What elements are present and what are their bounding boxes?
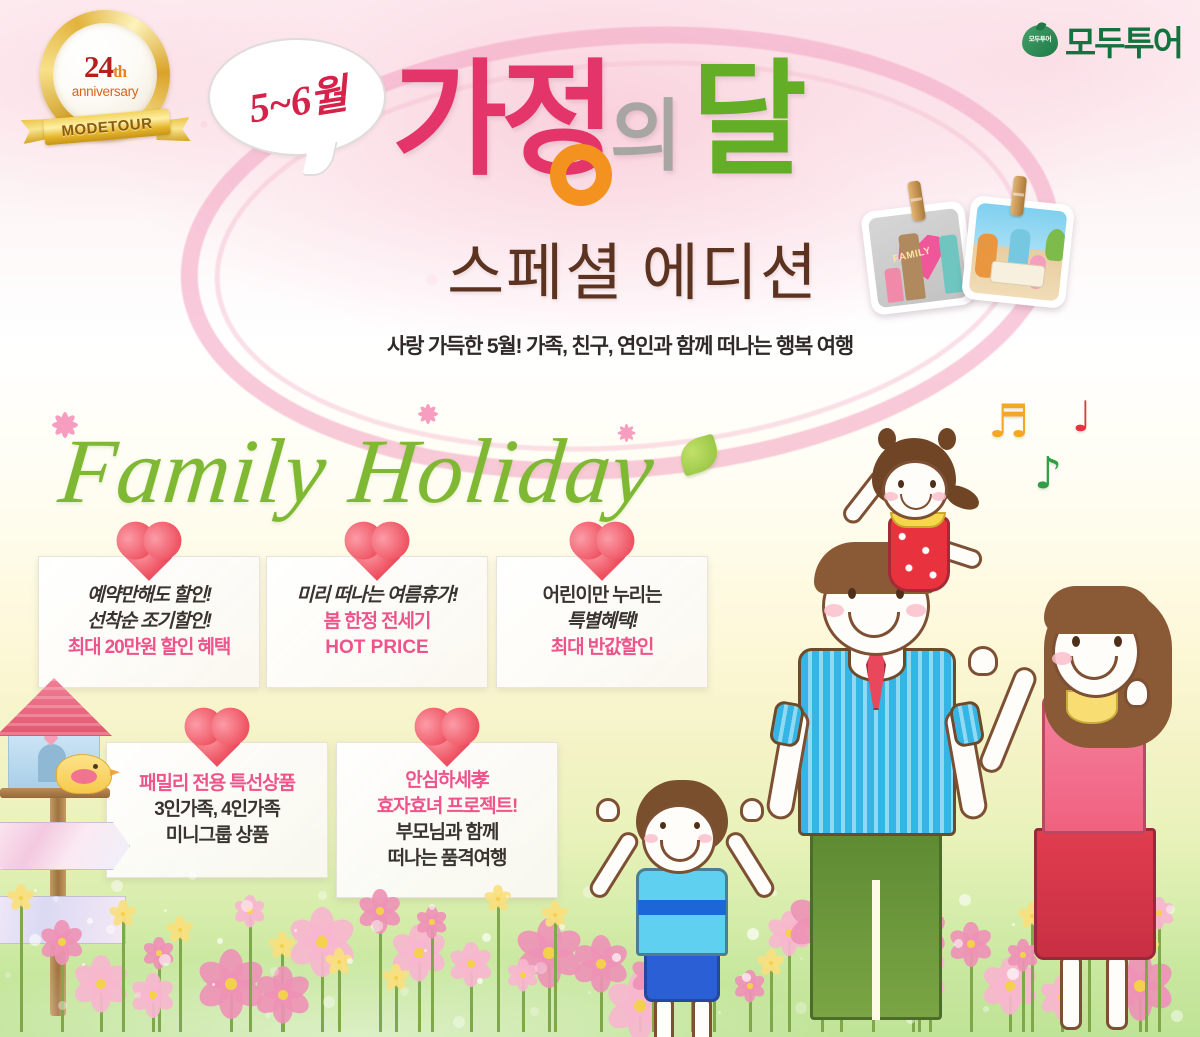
- birdhouse-illustration: [0, 670, 116, 790]
- card-line: 부모님과 함께: [396, 820, 498, 846]
- heart-pin-icon: [187, 709, 247, 764]
- card-line: 예약만해도 할인!: [87, 583, 211, 609]
- card-line: 선착순 조기할인!: [87, 609, 211, 635]
- heart-pin-icon: [119, 523, 179, 578]
- family-holiday-script: Family Holiday: [54, 418, 659, 524]
- picnic-tree: [1044, 228, 1067, 262]
- card-line: 미리 떠나는 여름휴가!: [296, 583, 457, 609]
- photo-person-mom: [939, 234, 964, 294]
- girl-cheek-left: [884, 492, 898, 501]
- boy-shirt-stripe: [638, 900, 726, 915]
- mother-eye-right: [1114, 636, 1122, 647]
- page-title: 가정 의 달: [392, 58, 801, 183]
- boy-eye-right: [694, 822, 700, 829]
- girl-eye-right: [930, 480, 936, 488]
- boy-hand-right: [740, 798, 764, 822]
- modetour-logo[interactable]: 모두투어 모두투어: [1022, 16, 1182, 65]
- badge-years-suffix: th: [113, 62, 126, 81]
- card-line-highlight: 안심하세孝: [405, 768, 488, 794]
- promo-banner: 24th anniversary MODETOUR 모두투어 모두투어 5~6월…: [0, 0, 1200, 1037]
- girl-eye-left: [898, 480, 904, 488]
- card-kids-benefit[interactable]: 어린이만 누리는 특별혜택! 최대 반값할인: [496, 556, 708, 688]
- mother-cheek-left: [1052, 652, 1072, 665]
- photo-image-family: FAMILY: [868, 208, 968, 308]
- headline-glyph-ga: 가: [392, 48, 501, 193]
- logo-wordmark: 모두투어: [1065, 16, 1182, 65]
- card-line-highlight-en: HOT PRICE: [325, 635, 428, 661]
- card-line: 3인가족, 4인가족: [154, 797, 280, 823]
- boy-shorts: [644, 952, 720, 1002]
- card-summer-charter[interactable]: 미리 떠나는 여름휴가! 봄 한정 전세기 HOT PRICE: [266, 556, 488, 688]
- card-line: 미니그룹 상품: [166, 823, 268, 849]
- card-line: 특별혜택!: [567, 609, 638, 635]
- heart-pin-icon: [417, 709, 477, 764]
- mother-eye-left: [1072, 636, 1080, 647]
- picnic-mat: [990, 260, 1046, 288]
- boy-cheek-right: [698, 834, 712, 843]
- bird-icon: [56, 754, 112, 794]
- father-leg-gap: [872, 880, 880, 1020]
- illustration-girl: [838, 432, 1008, 572]
- logo-mark-text: 모두투어: [1029, 37, 1051, 44]
- photo-person-child: [884, 267, 904, 303]
- badge-years-number: 24: [84, 49, 113, 84]
- ribbon-body: MODETOUR: [43, 109, 171, 146]
- music-note-icon-2: ♩: [1072, 396, 1092, 438]
- boy-leg-left: [654, 998, 674, 1037]
- girl-face: [882, 460, 948, 520]
- photo-image-picnic: [969, 203, 1068, 302]
- card-early-booking[interactable]: 예약만해도 할인! 선착순 조기할인! 최대 20만원 할인 혜택: [38, 556, 260, 688]
- mother-legs: [1056, 954, 1134, 1030]
- card-line-highlight: 패밀리 전용 특선상품: [139, 771, 295, 797]
- boy-leg-right: [692, 998, 712, 1037]
- card-line-highlight: 봄 한정 전세기: [324, 609, 431, 635]
- page-tagline: 사랑 가득한 5월! 가족, 친구, 연인과 함께 떠나는 행복 여행: [340, 330, 900, 360]
- heart-pin-icon: [572, 523, 632, 578]
- mother-hand-raised: [968, 646, 998, 676]
- bird-eye: [93, 764, 98, 769]
- card-line-highlight: 최대 반값할인: [551, 635, 653, 661]
- headline-part-dal: 달: [692, 58, 801, 183]
- father-cheek-left: [824, 604, 844, 617]
- badge-anniversary-label: anniversary: [72, 84, 138, 99]
- mother-bangs: [1044, 586, 1154, 634]
- boy-eye-left: [660, 822, 666, 829]
- music-note-icon-3: ♪: [1034, 452, 1062, 496]
- father-cheek-right: [906, 604, 926, 617]
- card-family-package[interactable]: 패밀리 전용 특선상품 3인가족, 4인가족 미니그룹 상품: [106, 742, 328, 878]
- card-line: 어린이만 누리는: [543, 583, 662, 609]
- mother-skirt: [1034, 828, 1156, 960]
- heart-pin-icon: [347, 523, 407, 578]
- logo-leaf-icon: 모두투어: [1022, 25, 1058, 57]
- headline-part-ui: 의: [610, 98, 678, 183]
- mother-leg-left: [1060, 954, 1082, 1030]
- mother-hand-cheek: [1124, 678, 1150, 708]
- page-subtitle: 스페셜 에디션: [398, 222, 868, 312]
- boy-hand-left: [596, 798, 620, 822]
- boy-cheek-left: [644, 834, 658, 843]
- father-eye-left: [848, 588, 856, 599]
- badge-years: 24th: [84, 51, 126, 82]
- bird-wing: [71, 769, 97, 784]
- card-line-highlight: 최대 20만원 할인 혜택: [68, 635, 231, 661]
- anniversary-badge: 24th anniversary MODETOUR: [22, 8, 192, 156]
- badge-ribbon: MODETOUR: [24, 108, 190, 148]
- ribbon-brand-label: MODETOUR: [61, 115, 153, 140]
- card-line-highlight: 효자효녀 프로젝트!: [377, 794, 517, 820]
- hanging-photos: FAMILY: [862, 176, 1092, 351]
- headline-orange-circle: [550, 144, 612, 206]
- mother-leg-right: [1106, 954, 1128, 1030]
- month-speech-bubble: 5~6월: [208, 38, 386, 156]
- girl-cheek-right: [932, 492, 946, 501]
- birdhouse-roof: [0, 678, 112, 736]
